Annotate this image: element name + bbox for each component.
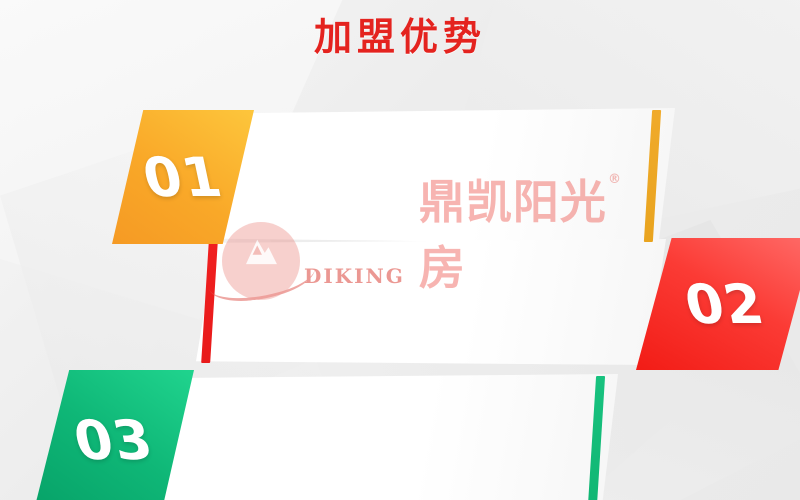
advantage-card-2 (196, 239, 666, 365)
number-label-1: 01 (138, 146, 229, 209)
advantage-card-1 (205, 108, 675, 244)
page-title: 加盟优势 (0, 14, 800, 60)
advantage-card-3 (148, 374, 618, 500)
number-label-3: 03 (69, 409, 160, 472)
poster-canvas: 加盟优势 01 品牌使用支持 鼎凯阳光聚焦铝包木阳光房，项目案例遍布全国， 知名… (0, 0, 800, 500)
number-label-2: 02 (680, 273, 771, 336)
